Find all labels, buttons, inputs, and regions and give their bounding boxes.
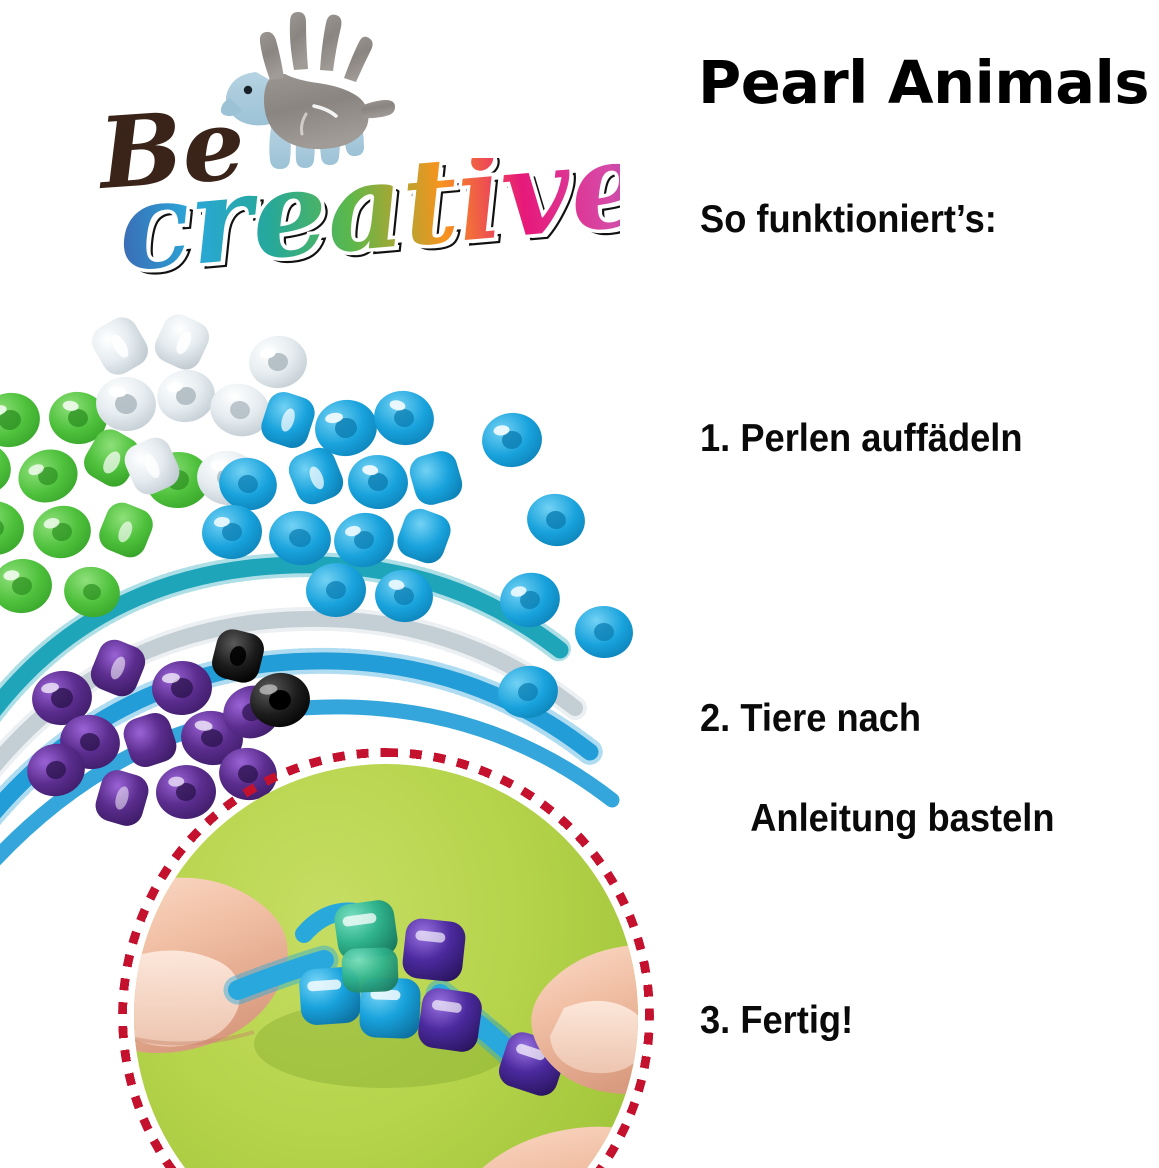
logo-word-creative: creative! creative! creative!: [110, 158, 620, 308]
step-2: 2. Tiere nach Anleitung basteln: [700, 644, 1137, 894]
step-3-text: 3. Fertig!: [700, 996, 1137, 1046]
brand-logo: Be creative! creative! cr: [90, 8, 620, 293]
instructions-column: Pearl Animals So funktioniert’s: 1. Perl…: [698, 0, 1159, 1168]
step-photo-inset: [118, 748, 654, 1168]
step-1-text: 1. Perlen auffädeln: [700, 414, 1137, 464]
step-1: 1. Perlen auffädeln: [700, 364, 1137, 514]
step-3: 3. Fertig!: [700, 946, 1137, 1096]
packaging-canvas: Be creative! creative! cr: [0, 0, 1159, 1168]
page-title: Pearl Animals: [698, 52, 1159, 114]
step-2-line-1: 2. Tiere nach: [700, 694, 1137, 744]
step-2-line-2: Anleitung basteln: [700, 794, 1137, 844]
instructions-subtitle: So funktioniert’s:: [700, 198, 1129, 242]
